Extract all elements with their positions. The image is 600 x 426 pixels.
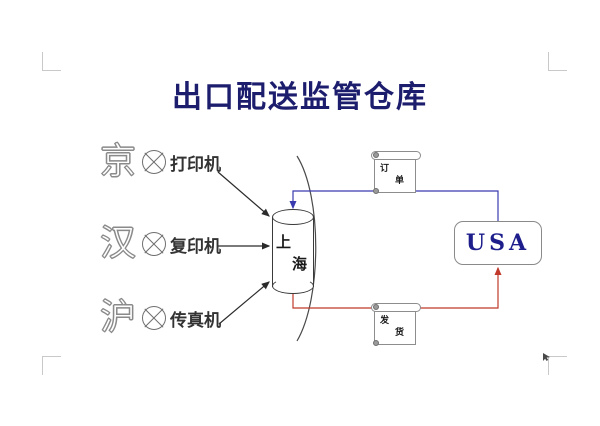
order-doc-char-1: 订 bbox=[380, 164, 389, 174]
document-canvas: 出口配送监管仓库 京 打印机 bbox=[0, 0, 600, 426]
warehouse-char-shang: 上 bbox=[276, 231, 291, 252]
scroll-knob-bottom bbox=[373, 340, 379, 346]
crop-mark-top-left bbox=[42, 52, 61, 71]
device-label-copier: 复印机 bbox=[170, 232, 221, 257]
crop-mark-bottom-right bbox=[548, 356, 567, 375]
warehouse-cylinder[interactable]: 上 海 bbox=[272, 209, 314, 294]
document-scroll-shipment[interactable]: 发 货 bbox=[371, 300, 421, 348]
wire-fax-to-warehouse bbox=[219, 282, 269, 324]
wire-printer-to-warehouse bbox=[218, 172, 269, 216]
crop-mark-top-right bbox=[548, 52, 567, 71]
shipment-doc-char-2: 货 bbox=[395, 328, 404, 338]
scroll-knob-bottom bbox=[373, 188, 379, 194]
warehouse-char-hai: 海 bbox=[292, 253, 307, 274]
order-doc-char-2: 单 bbox=[395, 176, 404, 186]
document-scroll-order[interactable]: 订 单 bbox=[371, 148, 421, 196]
circle-x-icon bbox=[142, 232, 166, 256]
page-title: 出口配送监管仓库 bbox=[0, 72, 600, 116]
destination-label: USA bbox=[466, 230, 530, 256]
source-row-copier[interactable]: 汉 复印机 bbox=[100, 222, 221, 266]
city-char-han: 汉 bbox=[100, 226, 140, 262]
cylinder-bottom-cap bbox=[272, 278, 314, 294]
source-row-printer[interactable]: 京 打印机 bbox=[100, 140, 221, 184]
device-label-printer: 打印机 bbox=[170, 150, 221, 175]
circle-x-icon bbox=[142, 150, 166, 174]
cylinder-body bbox=[272, 217, 314, 287]
scroll-knob-top bbox=[373, 152, 379, 158]
source-row-fax[interactable]: 沪 传真机 bbox=[100, 296, 221, 340]
scroll-sheet bbox=[374, 309, 416, 345]
circle-x-icon bbox=[142, 306, 166, 330]
destination-usa-box[interactable]: USA bbox=[454, 221, 542, 265]
scroll-sheet bbox=[374, 157, 416, 193]
scroll-knob-top bbox=[373, 304, 379, 310]
device-label-fax: 传真机 bbox=[170, 306, 221, 331]
city-char-hu: 沪 bbox=[100, 300, 140, 336]
cylinder-top-cap bbox=[272, 209, 314, 225]
city-char-jing: 京 bbox=[100, 144, 140, 180]
crop-mark-bottom-left bbox=[42, 356, 61, 375]
shipment-doc-char-1: 发 bbox=[380, 316, 389, 326]
